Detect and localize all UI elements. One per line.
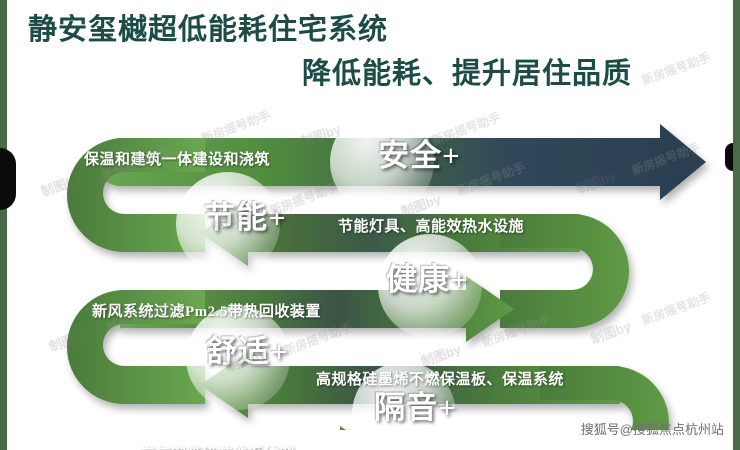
row-5-description: 高气密等级节能系统窗 <box>140 443 295 450</box>
serpentine-diagram: 保温和建筑一体建设和浇筑 安全+ 节能灯具、高能效热水设施 节能+ 新风系统过滤… <box>0 110 740 430</box>
slide-canvas: 静安玺樾超低能耗住宅系统 降低能耗、提升居住品质 <box>0 0 740 450</box>
footer-credit: 搜狐号@搜狐焦点杭州站 <box>581 419 724 438</box>
watermark-text: 新房摇号助手 <box>639 48 712 89</box>
row-2-description: 节能灯具、高能效热水设施 <box>338 215 524 236</box>
band-row-5 <box>48 426 392 430</box>
row-1-description: 保温和建筑一体建设和浇筑 <box>84 148 270 169</box>
row-4-label: 舒适+ <box>206 326 289 371</box>
page-title: 静安玺樾超低能耗住宅系统 <box>28 6 388 48</box>
row-3-label: 健康+ <box>386 254 469 299</box>
row-3-description: 新风系统过滤Pm2.5带热回收装置 <box>92 300 321 321</box>
row-2-label: 节能+ <box>204 192 287 237</box>
row-5-label: 隔音+ <box>374 382 457 427</box>
page-subtitle: 降低能耗、提升居住品质 <box>302 50 632 92</box>
row-1-label: 安全+ <box>378 130 461 175</box>
